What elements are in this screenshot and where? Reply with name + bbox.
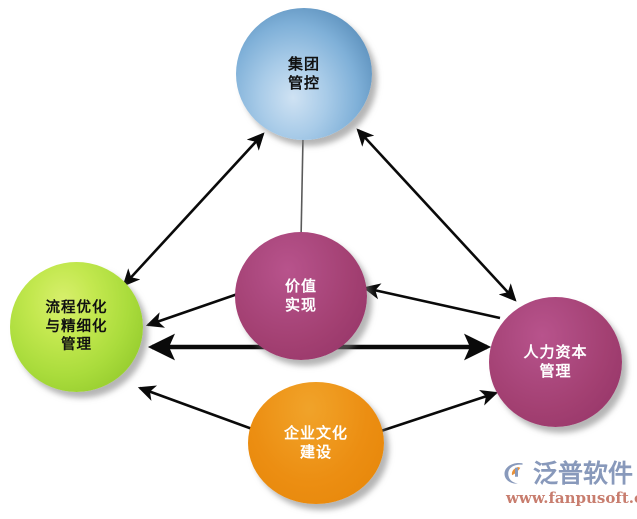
node-group-control[interactable]: 集团 管控	[236, 8, 372, 140]
node-value-realization-label: 价值 实现	[285, 277, 317, 315]
node-process-optimization-label: 流程优化 与精细化 管理	[46, 299, 108, 355]
node-group-control-label: 集团 管控	[288, 55, 320, 93]
diagram-canvas: 集团 管控 流程优化 与精细化 管理 价值 实现 人力资本 管理 企业文化 建设…	[0, 0, 637, 519]
watermark-brand-text: 泛普软件	[533, 461, 633, 486]
node-human-capital[interactable]: 人力资本 管理	[489, 297, 622, 427]
watermark: 泛普软件 www.fanpusoft.com	[500, 458, 634, 516]
node-human-capital-label: 人力资本 管理	[523, 343, 587, 381]
node-corporate-culture[interactable]: 企业文化 建设	[248, 382, 384, 504]
connector-group-control-to-human-capital	[358, 130, 515, 300]
fanpusoft-logo-icon	[500, 458, 530, 488]
connector-group-control-to-value	[301, 137, 303, 240]
node-corporate-culture-label: 企业文化 建设	[284, 424, 348, 462]
node-value-realization[interactable]: 价值 实现	[235, 232, 367, 360]
connector-culture-to-process	[140, 388, 255, 430]
connector-culture-to-human-capital	[378, 393, 496, 432]
node-process-optimization[interactable]: 流程优化 与精细化 管理	[10, 262, 143, 392]
watermark-brand-row: 泛普软件	[500, 458, 633, 488]
connector-process-to-group-control	[124, 134, 263, 285]
watermark-url-text: www.fanpusoft.com	[506, 489, 637, 507]
connector-human-capital-to-value	[365, 288, 500, 318]
